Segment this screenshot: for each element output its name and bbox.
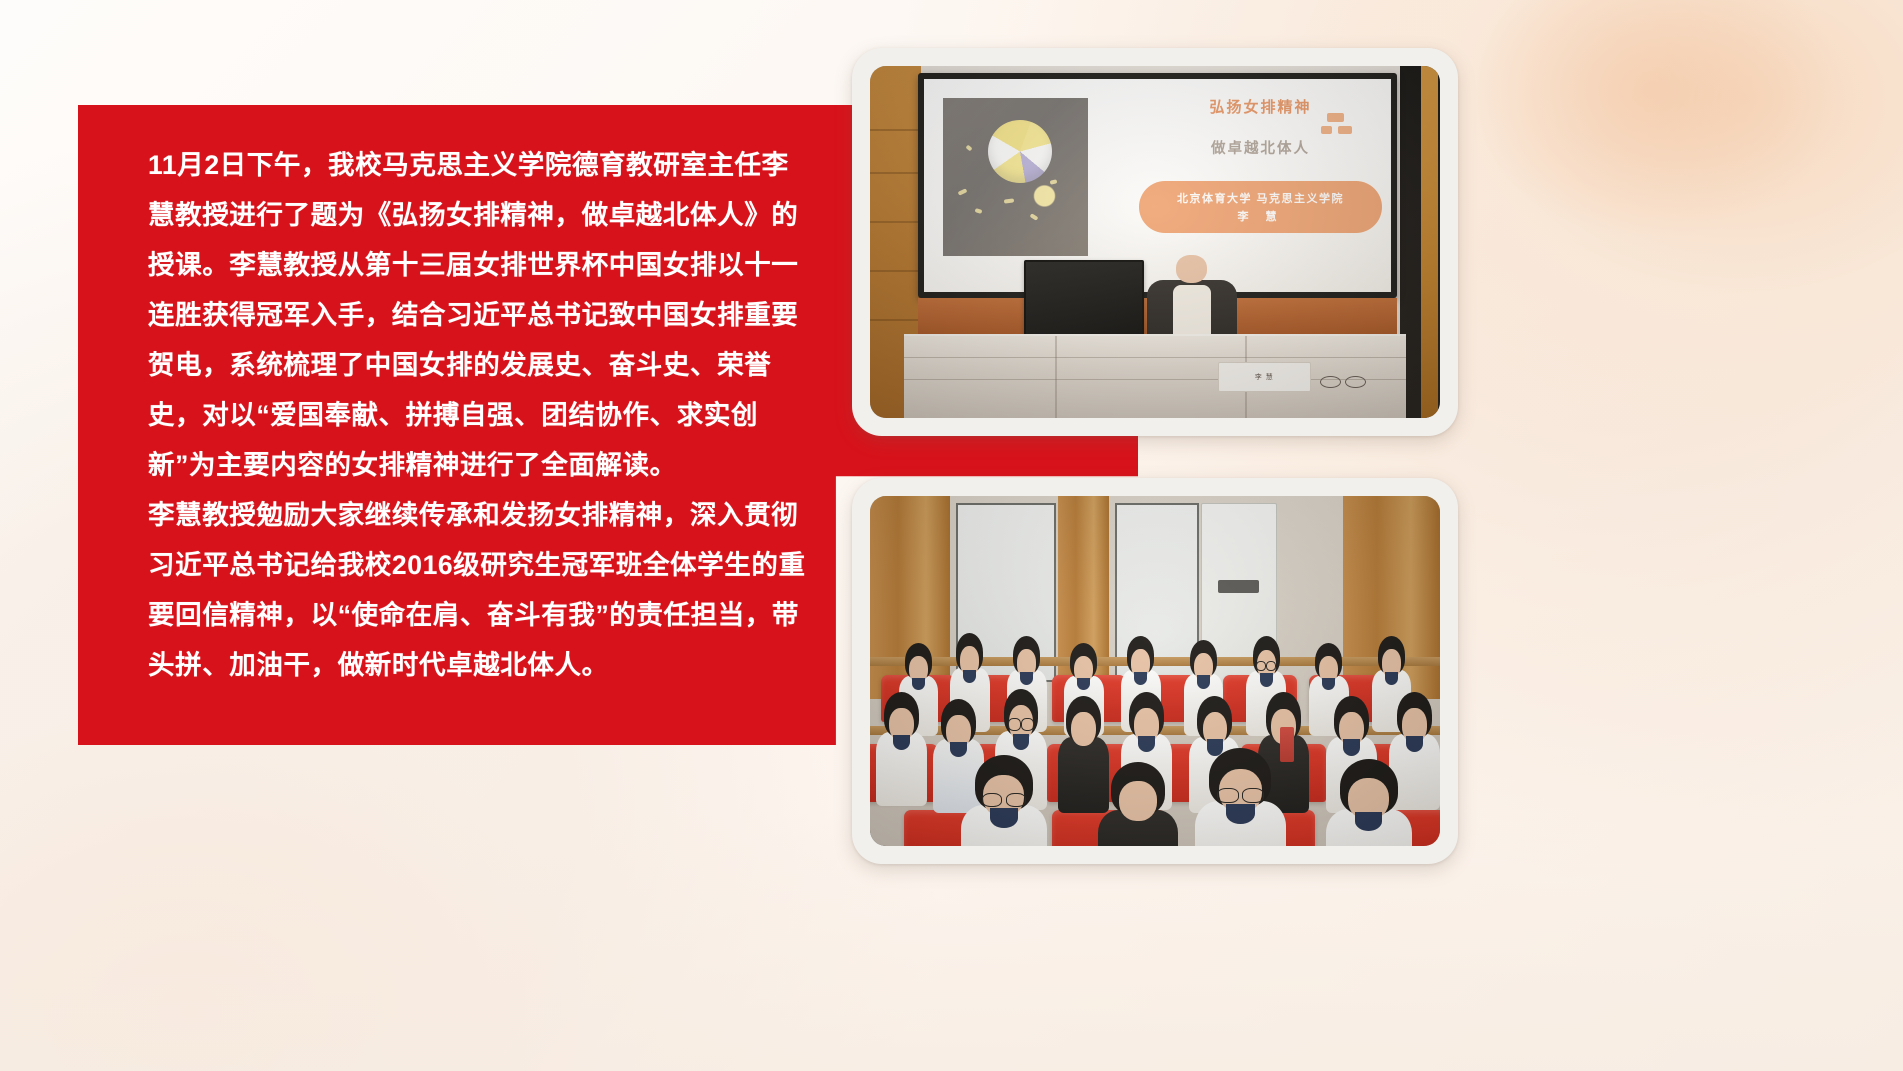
right-wood-strip [1421, 66, 1438, 418]
audience-person-front [1326, 759, 1412, 847]
lecture-photo-card[interactable]: 弘扬女排精神 做卓越北体人 北京体育大学 马克思主义学院 李 慧 [852, 48, 1458, 436]
volleyball-icon [988, 120, 1052, 183]
article-paragraph-2: 李慧教授勉励大家继续传承和发扬女排精神，深入贯彻习近平总书记给我校2016级研究… [148, 490, 808, 690]
slide-subtitle: 做卓越北体人 [1149, 137, 1373, 158]
audience-person-front [1195, 748, 1286, 846]
article-body: 11月2日下午，我校马克思主义学院德育教研室主任李慧教授进行了题为《弘扬女排精神… [148, 140, 808, 690]
classroom-scene: 弘扬女排精神 做卓越北体人 北京体育大学 马克思主义学院 李 慧 [870, 66, 1440, 418]
audience-person [876, 692, 927, 804]
desk-nameplate: 李 慧 [1218, 362, 1311, 392]
decorative-squares-icon [1321, 113, 1359, 139]
slide-organization: 北京体育大学 马克思主义学院 [1177, 190, 1344, 206]
audience-person-front [1098, 762, 1178, 846]
audience-photo-card[interactable] [852, 478, 1458, 864]
eyeglasses-on-desk [1320, 376, 1366, 387]
slide-presenter-pill: 北京体育大学 马克思主义学院 李 慧 [1139, 181, 1382, 232]
slide-volleyball-photo [943, 98, 1088, 256]
article-paragraph-1: 11月2日下午，我校马克思主义学院德育教研室主任李慧教授进行了题为《弘扬女排精神… [148, 140, 808, 490]
right-wall [1400, 66, 1440, 418]
slide-presenter-name: 李 慧 [1237, 208, 1283, 224]
audience-person-front [961, 755, 1047, 846]
audience-photo [870, 496, 1440, 846]
lecture-photo: 弘扬女排精神 做卓越北体人 北京体育大学 马克思主义学院 李 慧 [870, 66, 1440, 418]
water-bottle [1280, 727, 1294, 762]
auditorium-scene [870, 496, 1440, 846]
